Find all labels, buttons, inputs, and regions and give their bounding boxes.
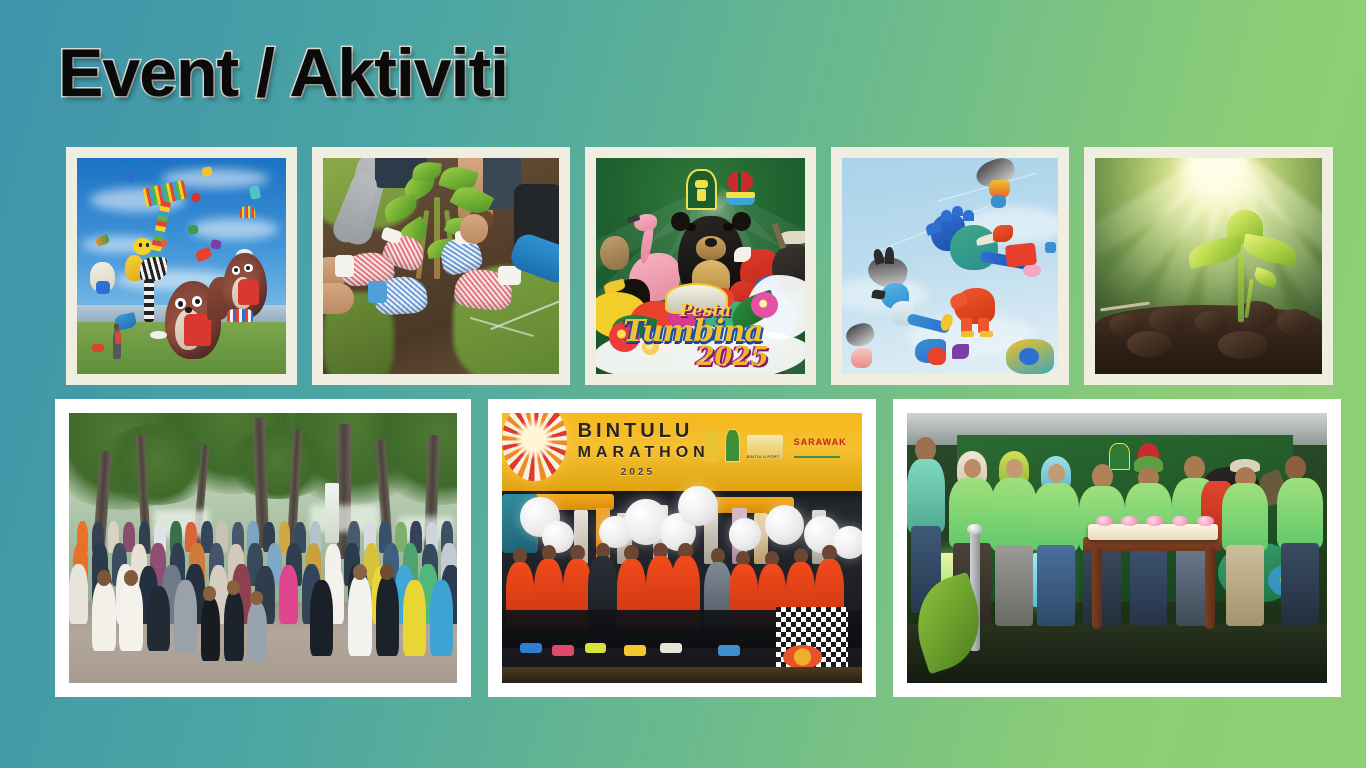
photo-pesta-tumbina-poster-image: Pesta Tumbina 2025: [596, 158, 805, 374]
photo-group-run[interactable]: [55, 399, 471, 697]
photo-cake-ceremony[interactable]: [893, 399, 1341, 697]
photo-cake-ceremony-image: [907, 413, 1327, 683]
photo-kites-sky-image: [842, 158, 1058, 374]
photo-kite-festival[interactable]: [66, 147, 297, 385]
sponsor-logo-state: [704, 429, 718, 461]
marathon-banner-line3: 2025: [621, 467, 655, 478]
photo-kites-sky[interactable]: [831, 147, 1069, 385]
photo-bintulu-marathon-image: BINTULU MARATHON 2025 BINTULU PORT SARAW…: [502, 413, 862, 683]
photo-kite-festival-image: [77, 158, 286, 374]
ceremony-cake: [1088, 524, 1218, 540]
slide-canvas: Event / Aktiviti: [0, 0, 1366, 768]
photo-seedling-image: [1095, 158, 1322, 374]
photo-pesta-tumbina-poster[interactable]: Pesta Tumbina 2025: [585, 147, 816, 385]
sponsor-label-sarawak: SARAWAK: [794, 437, 847, 447]
sponsor-label-bintulu-port: BINTULU PORT: [747, 454, 780, 459]
photo-bintulu-marathon[interactable]: BINTULU MARATHON 2025 BINTULU PORT SARAW…: [488, 399, 876, 697]
marathon-banner-line1: BINTULU: [578, 420, 694, 443]
sponsor-logo-bda: [725, 429, 739, 461]
gallery-bottom-row: BINTULU MARATHON 2025 BINTULU PORT SARAW…: [55, 399, 1341, 697]
poster-title-line3: 2025: [696, 342, 768, 372]
marathon-banner-line2: MARATHON: [578, 444, 710, 462]
photo-seedling[interactable]: [1084, 147, 1333, 385]
sarawak-state-logo: [726, 171, 755, 208]
photo-group-run-image: [69, 413, 457, 683]
photo-tree-planting-image: [323, 158, 559, 374]
photo-tree-planting[interactable]: [312, 147, 570, 385]
page-title: Event / Aktiviti: [58, 38, 508, 109]
gallery-top-row: Pesta Tumbina 2025: [66, 147, 1334, 385]
bintulu-development-authority-logo: [686, 169, 717, 210]
